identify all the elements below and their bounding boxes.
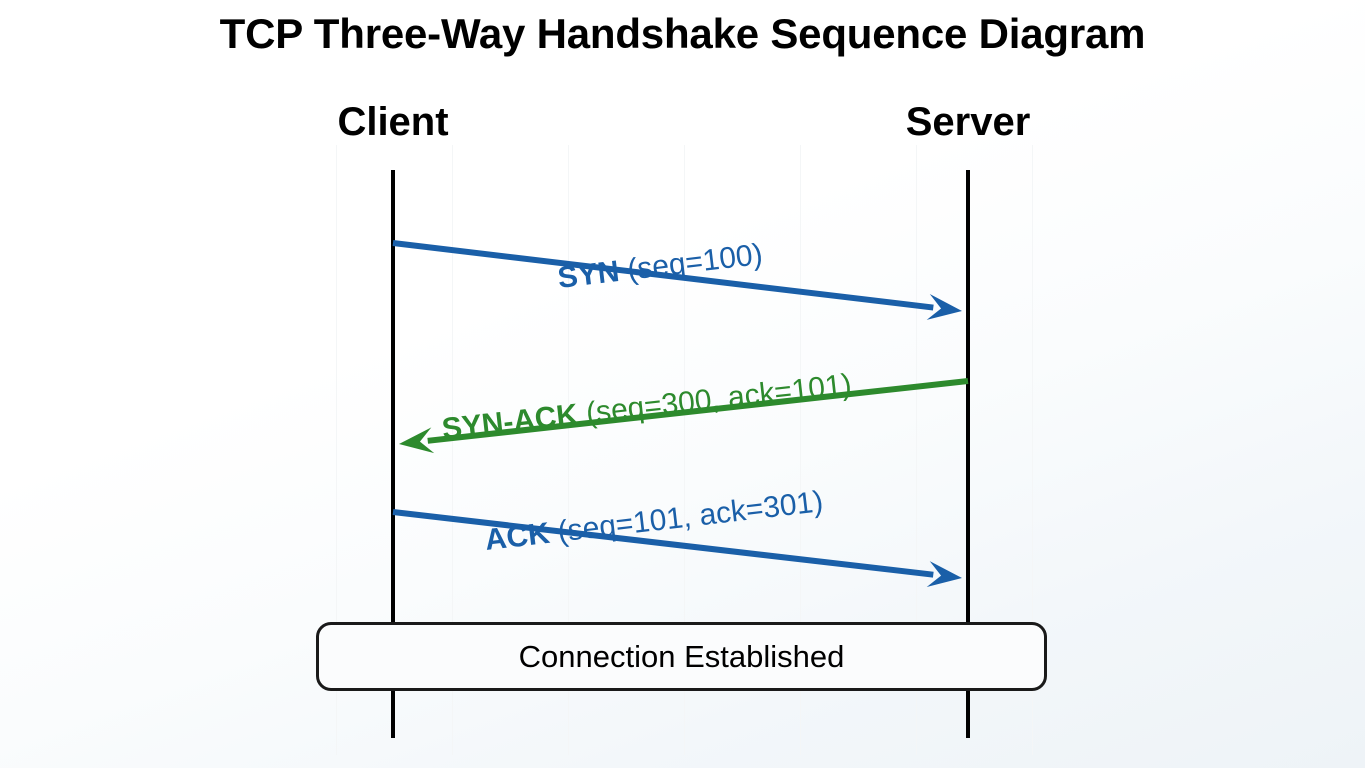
page-title: TCP Three-Way Handshake Sequence Diagram	[0, 10, 1365, 58]
participant-label-client: Client	[337, 100, 448, 145]
message-protocol-syn: SYN	[556, 255, 621, 295]
note-box-connection-established: Connection Established	[316, 622, 1047, 691]
message-protocol-ack: ACK	[483, 517, 551, 557]
participant-label-server: Server	[906, 100, 1031, 145]
note-box-label: Connection Established	[519, 639, 845, 675]
